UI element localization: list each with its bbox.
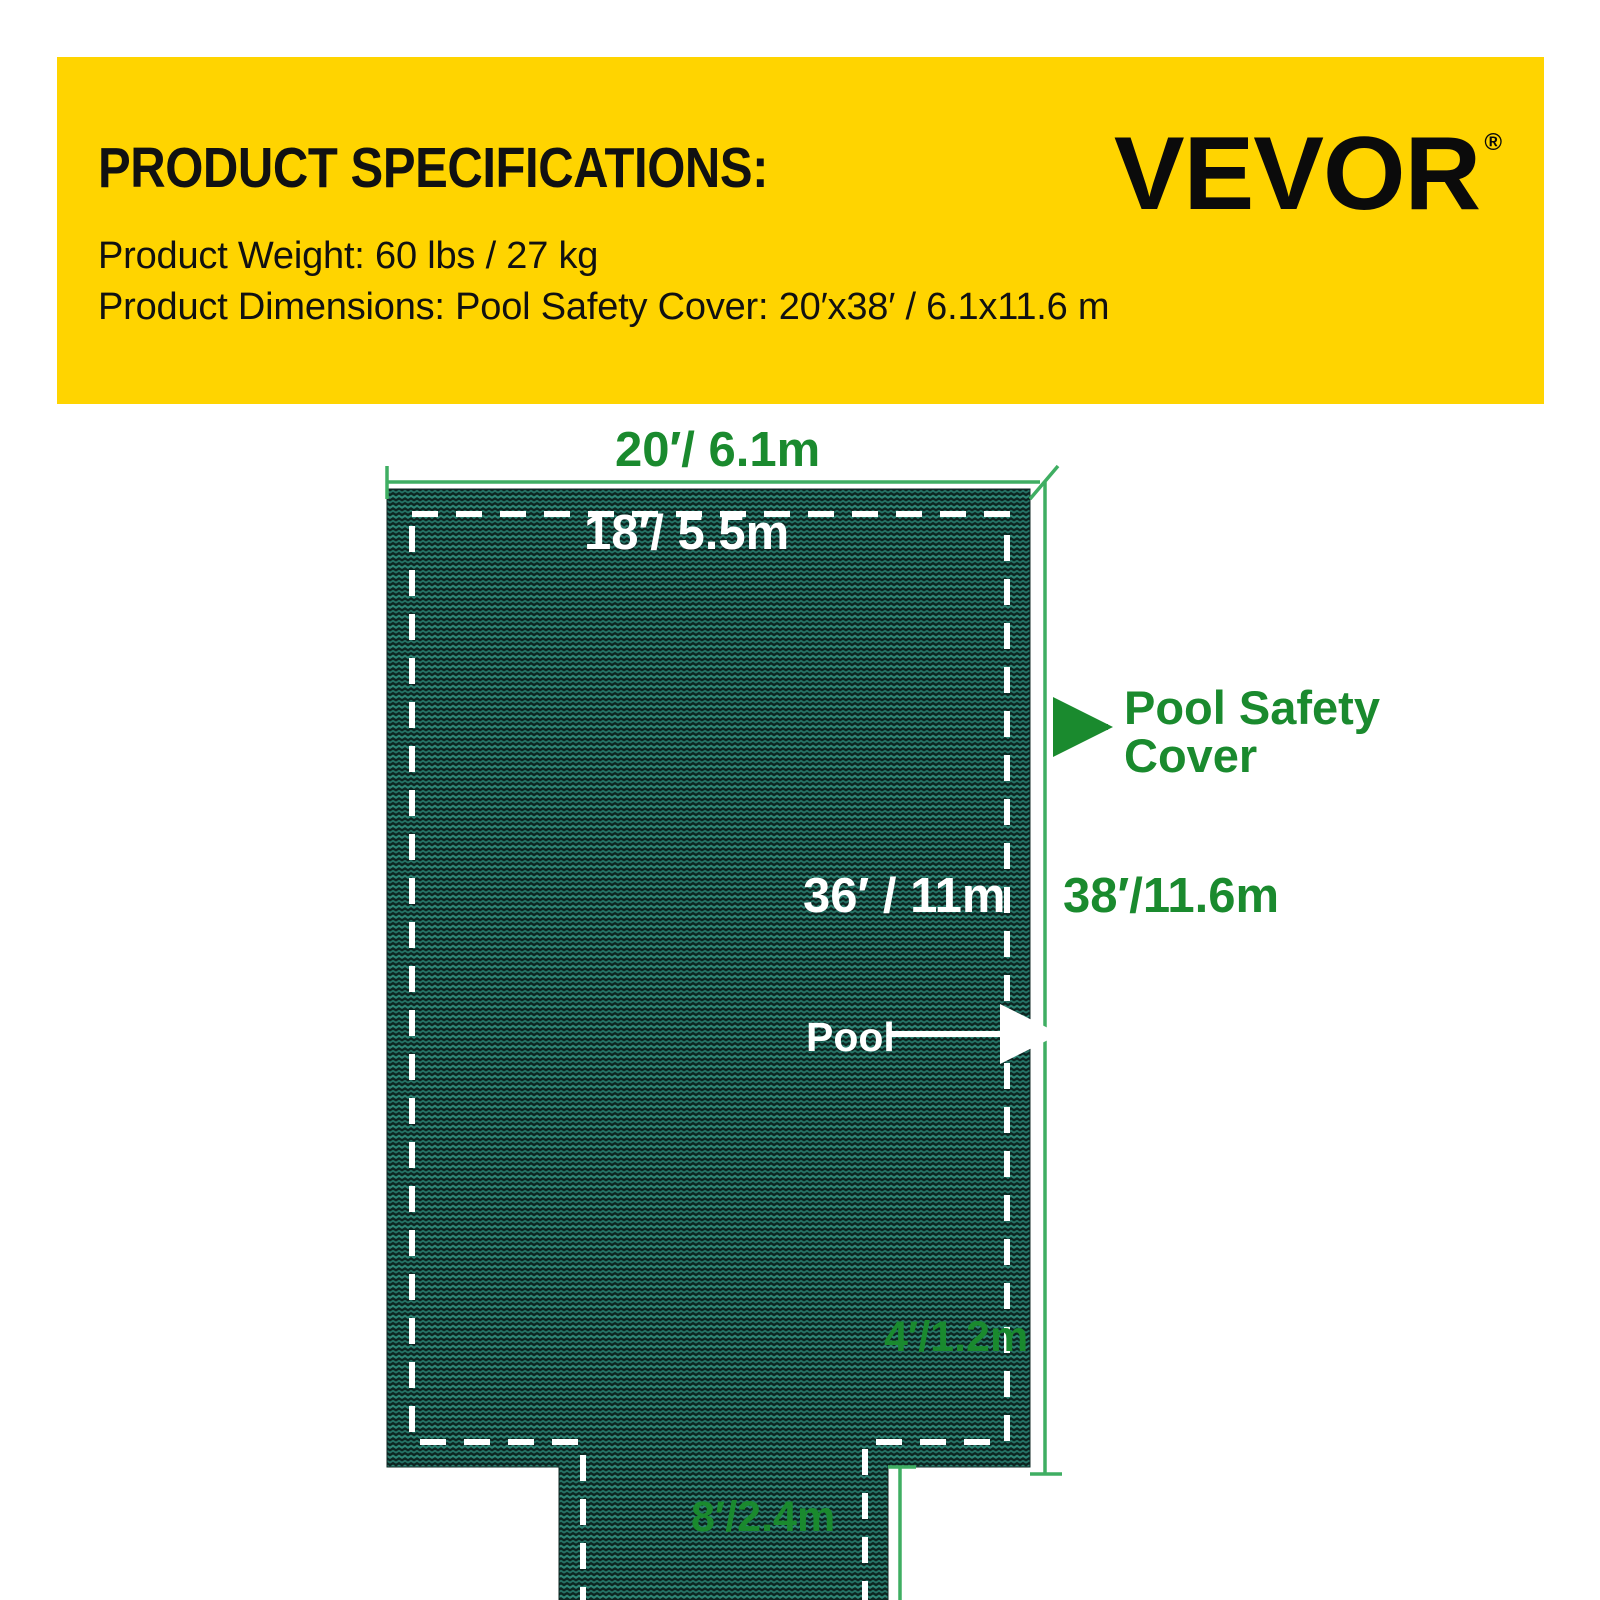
- label-pool-height: 36′ / 11m: [803, 872, 1005, 921]
- product-spec-banner: PRODUCT SPECIFICATIONS: VEVOR ® Product …: [57, 57, 1544, 404]
- label-cover-callout-line1: Pool Safety: [1124, 684, 1380, 732]
- vevor-wordmark: VEVOR: [1114, 127, 1480, 223]
- spec-product-weight: Product Weight: 60 lbs / 27 kg: [98, 235, 598, 278]
- label-cover-height: 38′/11.6m: [1063, 872, 1279, 921]
- diagram-svg: [0, 404, 1600, 1600]
- registered-trademark-icon: ®: [1484, 131, 1502, 155]
- label-cover-callout-line2: Cover: [1124, 732, 1380, 780]
- spec-product-dimensions: Product Dimensions: Pool Safety Cover: 2…: [98, 286, 1109, 329]
- pool-cover-diagram: 20′/ 6.1m 18′/ 5.5m 36′ / 11m 38′/11.6m …: [0, 404, 1600, 1600]
- page-title: PRODUCT SPECIFICATIONS:: [98, 135, 768, 201]
- label-tab-height: 4′/1.2m: [884, 1316, 1028, 1359]
- safety-cover-shape: [387, 489, 1030, 1600]
- vevor-logo: VEVOR ®: [1121, 127, 1502, 223]
- label-cover-callout: Pool Safety Cover: [1124, 684, 1380, 780]
- label-pool-width: 18′/ 5.5m: [584, 509, 789, 558]
- label-pool-callout: Pool: [806, 1017, 895, 1058]
- label-tab-width: 8′/2.4m: [691, 1496, 835, 1539]
- label-cover-width: 20′/ 6.1m: [615, 426, 820, 475]
